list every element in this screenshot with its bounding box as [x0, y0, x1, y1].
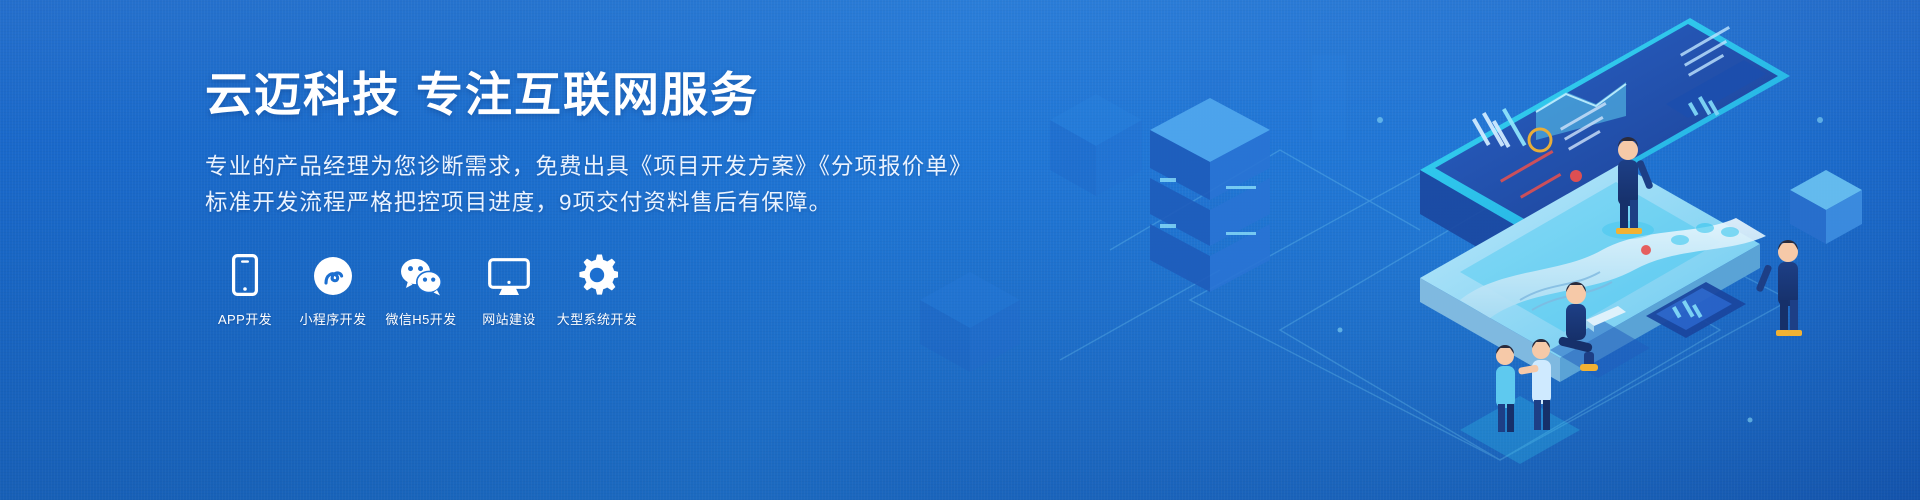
- service-item-app[interactable]: APP开发: [209, 252, 281, 328]
- floating-cube: [1790, 170, 1862, 244]
- service-label: APP开发: [218, 309, 272, 328]
- hero-banner: 云迈科技 专注互联网服务 专业的产品经理为您诊断需求，免费出具《项目开发方案》《…: [0, 0, 1920, 500]
- wechat-icon: [399, 252, 443, 296]
- service-item-mini-program[interactable]: 小程序开发: [297, 252, 369, 328]
- page-title: 云迈科技 专注互联网服务: [205, 66, 973, 125]
- service-label: 微信H5开发: [385, 309, 456, 328]
- isometric-tech-team-illustration: [860, 0, 1920, 500]
- subtitle-line-1: 专业的产品经理为您诊断需求，免费出具《项目开发方案》《分项报价单》: [205, 149, 973, 185]
- subtitle-block: 专业的产品经理为您诊断需求，免费出具《项目开发方案》《分项报价单》 标准开发流程…: [205, 149, 973, 222]
- mobile-phone-icon: [232, 252, 258, 296]
- mini-program-icon: [313, 252, 353, 296]
- service-label: 大型系统开发: [557, 309, 637, 328]
- service-label: 小程序开发: [299, 309, 366, 328]
- service-item-large-system[interactable]: 大型系统开发: [561, 252, 633, 328]
- service-label: 网站建设: [482, 309, 536, 328]
- walking-person: [1756, 240, 1802, 336]
- service-list: APP开发 小程序开发: [209, 252, 973, 328]
- hero-copy: 云迈科技 专注互联网服务 专业的产品经理为您诊断需求，免费出具《项目开发方案》《…: [205, 66, 973, 328]
- service-item-website[interactable]: 网站建设: [473, 252, 545, 328]
- monitor-icon: [488, 252, 530, 296]
- server-stack: [1150, 98, 1270, 292]
- gear-icon: [576, 252, 618, 296]
- service-item-wechat-h5[interactable]: 微信H5开发: [385, 252, 457, 328]
- subtitle-line-2: 标准开发流程严格把控项目进度，9项交付资料售后有保障。: [205, 185, 973, 221]
